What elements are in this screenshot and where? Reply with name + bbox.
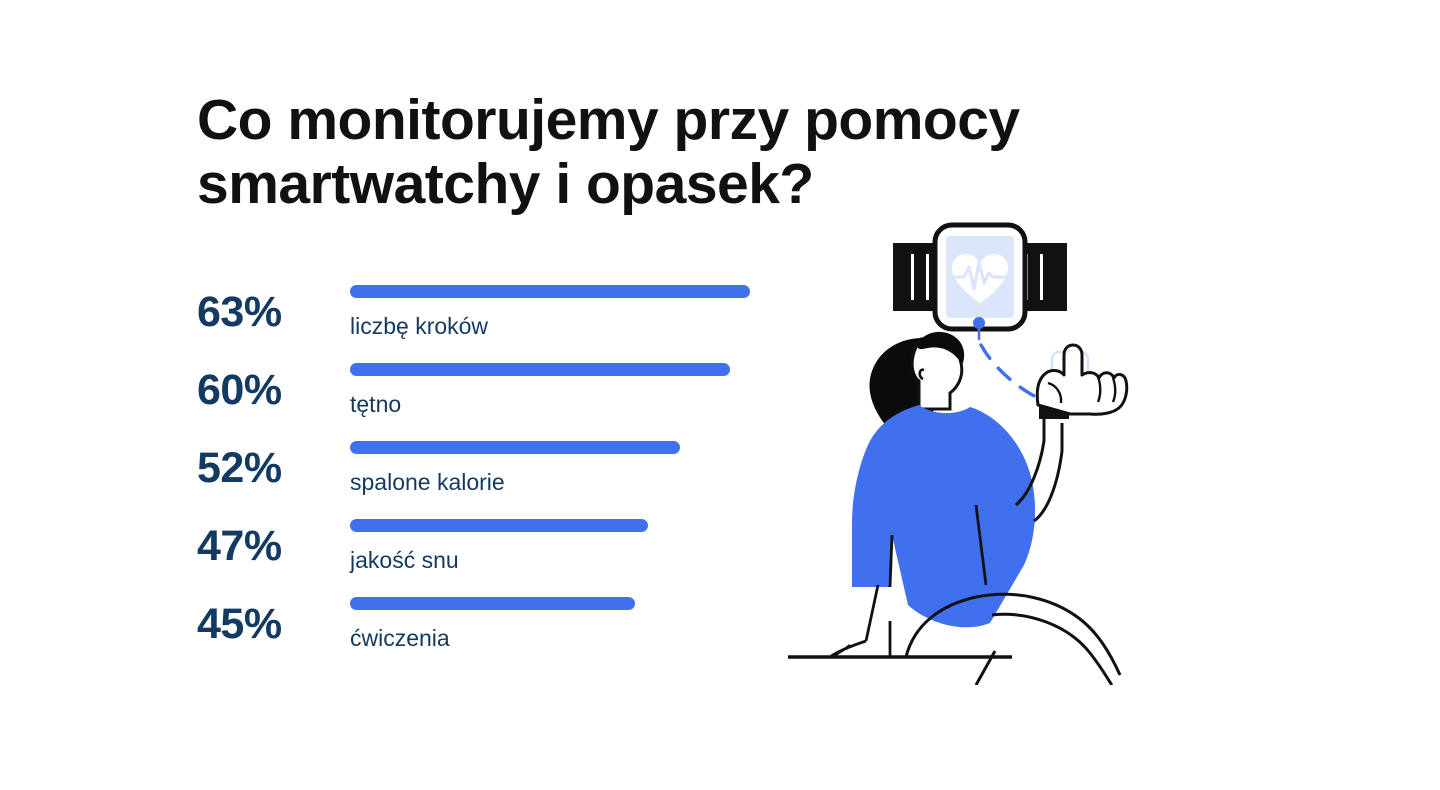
bar-fill: [350, 285, 750, 298]
bar-value-label: 47%: [197, 525, 317, 568]
bar-fill: [350, 519, 648, 532]
bar-category-label: spalone kalorie: [350, 469, 505, 496]
chart-row: 63% liczbę kroków: [197, 277, 757, 355]
bar-track: [350, 441, 750, 454]
seated-person-figure: [788, 332, 1127, 685]
front-foot-detail: [832, 645, 850, 657]
bar-fill: [350, 363, 730, 376]
bar-fill: [350, 597, 635, 610]
infographic-slide: Co monitorujemy przy pomocy smartwatchy …: [0, 0, 1440, 790]
bar-category-label: tętno: [350, 391, 401, 418]
sleeve-fold-left: [890, 535, 892, 587]
chart-row: 52% spalone kalorie: [197, 433, 757, 511]
bar-value-label: 63%: [197, 291, 317, 334]
bar-fill: [350, 441, 680, 454]
bar-value-label: 52%: [197, 447, 317, 490]
chart-row: 47% jakość snu: [197, 511, 757, 589]
bar-track: [350, 285, 750, 298]
bar-value-label: 45%: [197, 603, 317, 646]
bar-chart: 63% liczbę kroków 60% tętno 52% spalone …: [197, 277, 757, 667]
bar-track: [350, 363, 750, 376]
smartwatch-icon: [893, 225, 1067, 329]
pointing-hand: [1037, 345, 1126, 414]
front-leg-line: [866, 585, 878, 641]
bar-track: [350, 519, 750, 532]
bar-category-label: ćwiczenia: [350, 625, 450, 652]
bar-value-label: 60%: [197, 369, 317, 412]
illustration-person-pointing-at-smartwatch: [780, 205, 1180, 685]
page-title: Co monitorujemy przy pomocy smartwatchy …: [197, 88, 1027, 217]
thigh-bottom: [992, 614, 1112, 685]
chart-row: 60% tętno: [197, 355, 757, 433]
chart-row: 45% ćwiczenia: [197, 589, 757, 667]
bar-category-label: liczbę kroków: [350, 313, 488, 340]
bar-track: [350, 597, 750, 610]
bar-category-label: jakość snu: [350, 547, 459, 574]
upper-arm-inner: [1034, 423, 1062, 521]
